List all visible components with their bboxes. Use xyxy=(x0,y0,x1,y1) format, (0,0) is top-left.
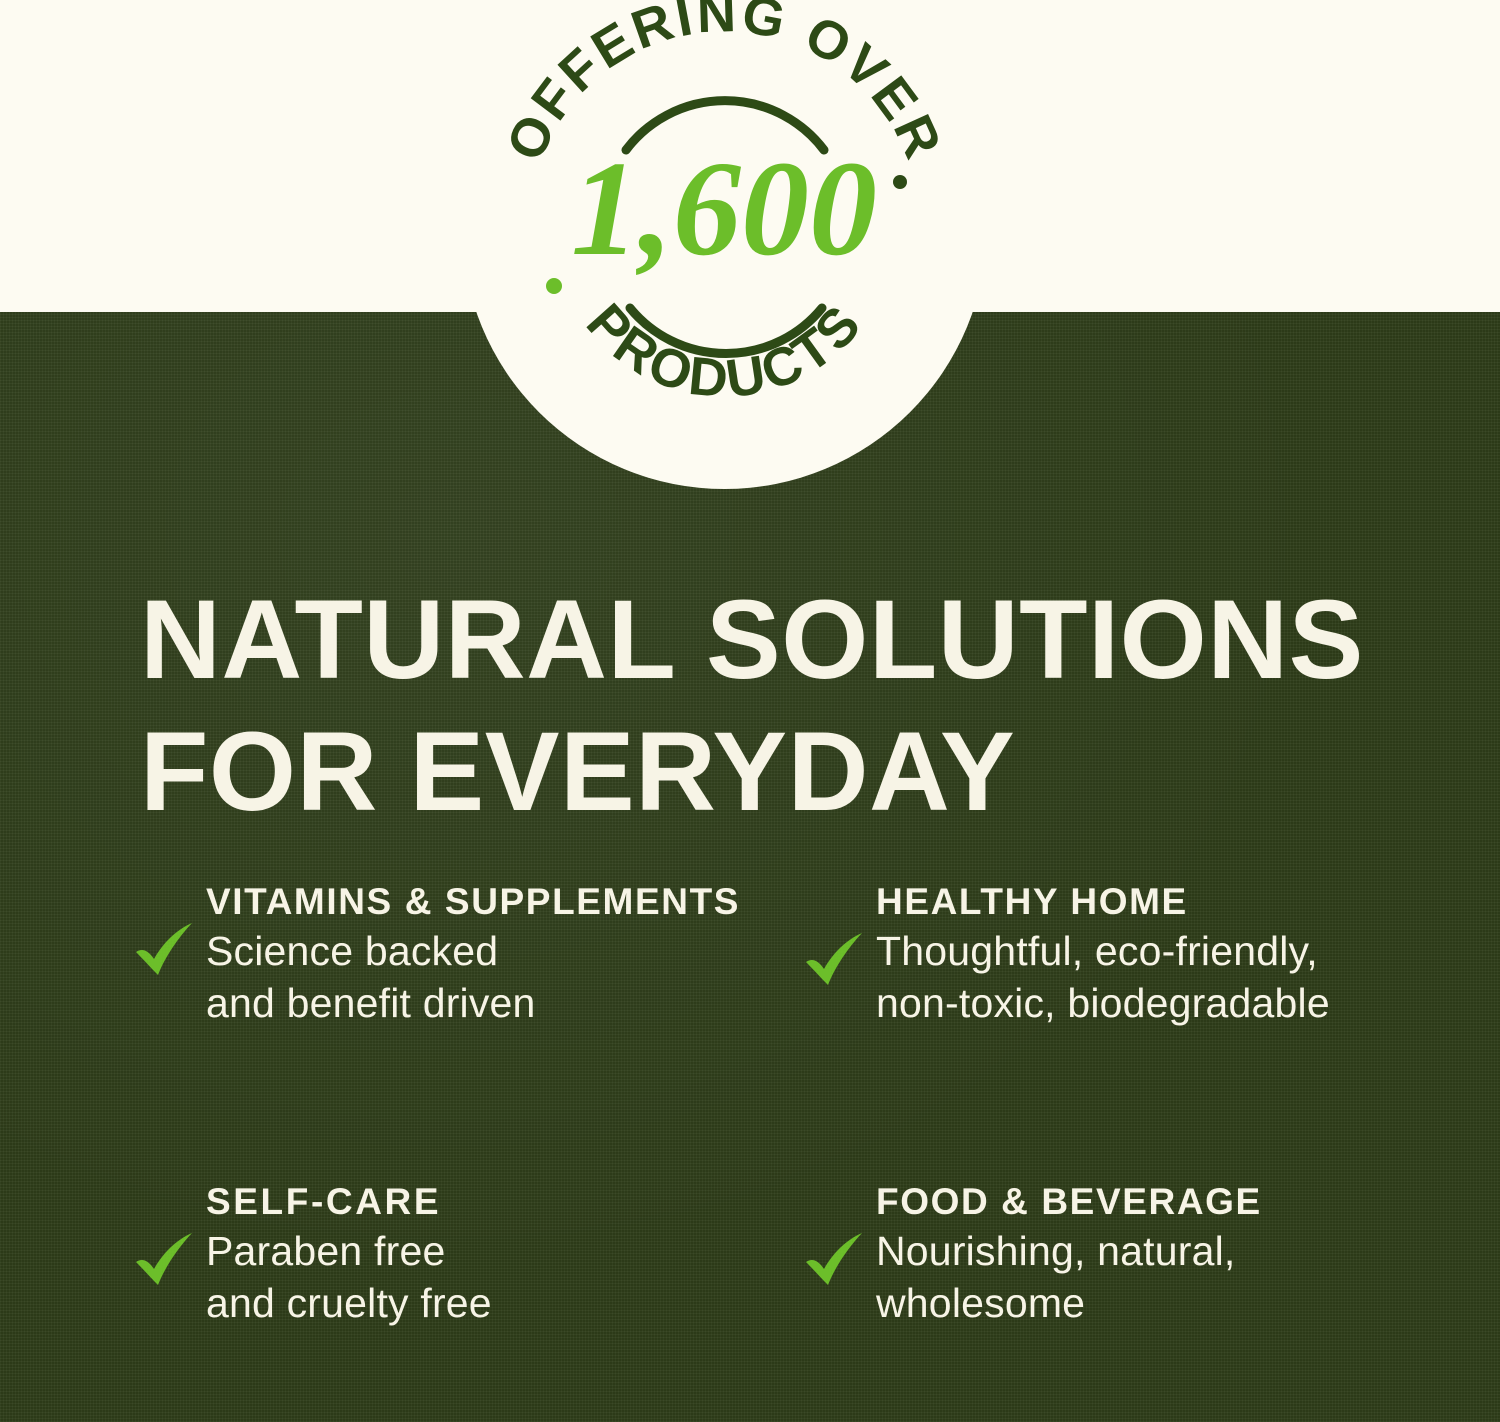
feature-list: VITAMINS & SUPPLEMENTS Science backed an… xyxy=(0,876,1500,1396)
promo-poster: OFFERING OVER PRODUCTS 1,600 NATURAL SOL… xyxy=(0,0,1500,1422)
feature-item-food-beverage: FOOD & BEVERAGE Nourishing, natural, who… xyxy=(802,1176,1500,1396)
feature-text-block: VITAMINS & SUPPLEMENTS Science backed an… xyxy=(206,876,792,1029)
feature-description: Science backed and benefit driven xyxy=(206,925,792,1029)
badge-dot-right xyxy=(893,175,907,189)
check-icon xyxy=(132,1232,206,1290)
feature-title: FOOD & BEVERAGE xyxy=(876,1178,1500,1225)
offering-products-badge: OFFERING OVER PRODUCTS 1,600 xyxy=(462,0,987,489)
feature-title: HEALTHY HOME xyxy=(876,878,1500,925)
check-icon xyxy=(802,1232,876,1290)
feature-description: Thoughtful, eco-friendly, non-toxic, bio… xyxy=(876,925,1500,1029)
feature-title: VITAMINS & SUPPLEMENTS xyxy=(206,878,792,925)
badge-product-count: 1,600 xyxy=(571,134,877,284)
feature-text-block: HEALTHY HOME Thoughtful, eco-friendly, n… xyxy=(876,876,1500,1029)
feature-item-healthy-home: HEALTHY HOME Thoughtful, eco-friendly, n… xyxy=(802,876,1500,1176)
feature-description: Paraben free and cruelty free xyxy=(206,1225,792,1329)
feature-item-vitamins-supplements: VITAMINS & SUPPLEMENTS Science backed an… xyxy=(132,876,792,1176)
badge-bottom-arc-text: PRODUCTS xyxy=(575,293,874,410)
feature-item-self-care: SELF-CARE Paraben free and cruelty free xyxy=(132,1176,792,1396)
feature-description: Nourishing, natural, wholesome xyxy=(876,1225,1500,1329)
feature-text-block: FOOD & BEVERAGE Nourishing, natural, who… xyxy=(876,1176,1500,1329)
check-icon xyxy=(802,932,876,990)
badge-dot-left xyxy=(546,278,562,294)
feature-text-block: SELF-CARE Paraben free and cruelty free xyxy=(206,1176,792,1329)
page-title: NATURAL SOLUTIONS FOR EVERYDAY xyxy=(140,574,1440,838)
check-icon xyxy=(132,922,206,980)
feature-title: SELF-CARE xyxy=(206,1178,792,1225)
